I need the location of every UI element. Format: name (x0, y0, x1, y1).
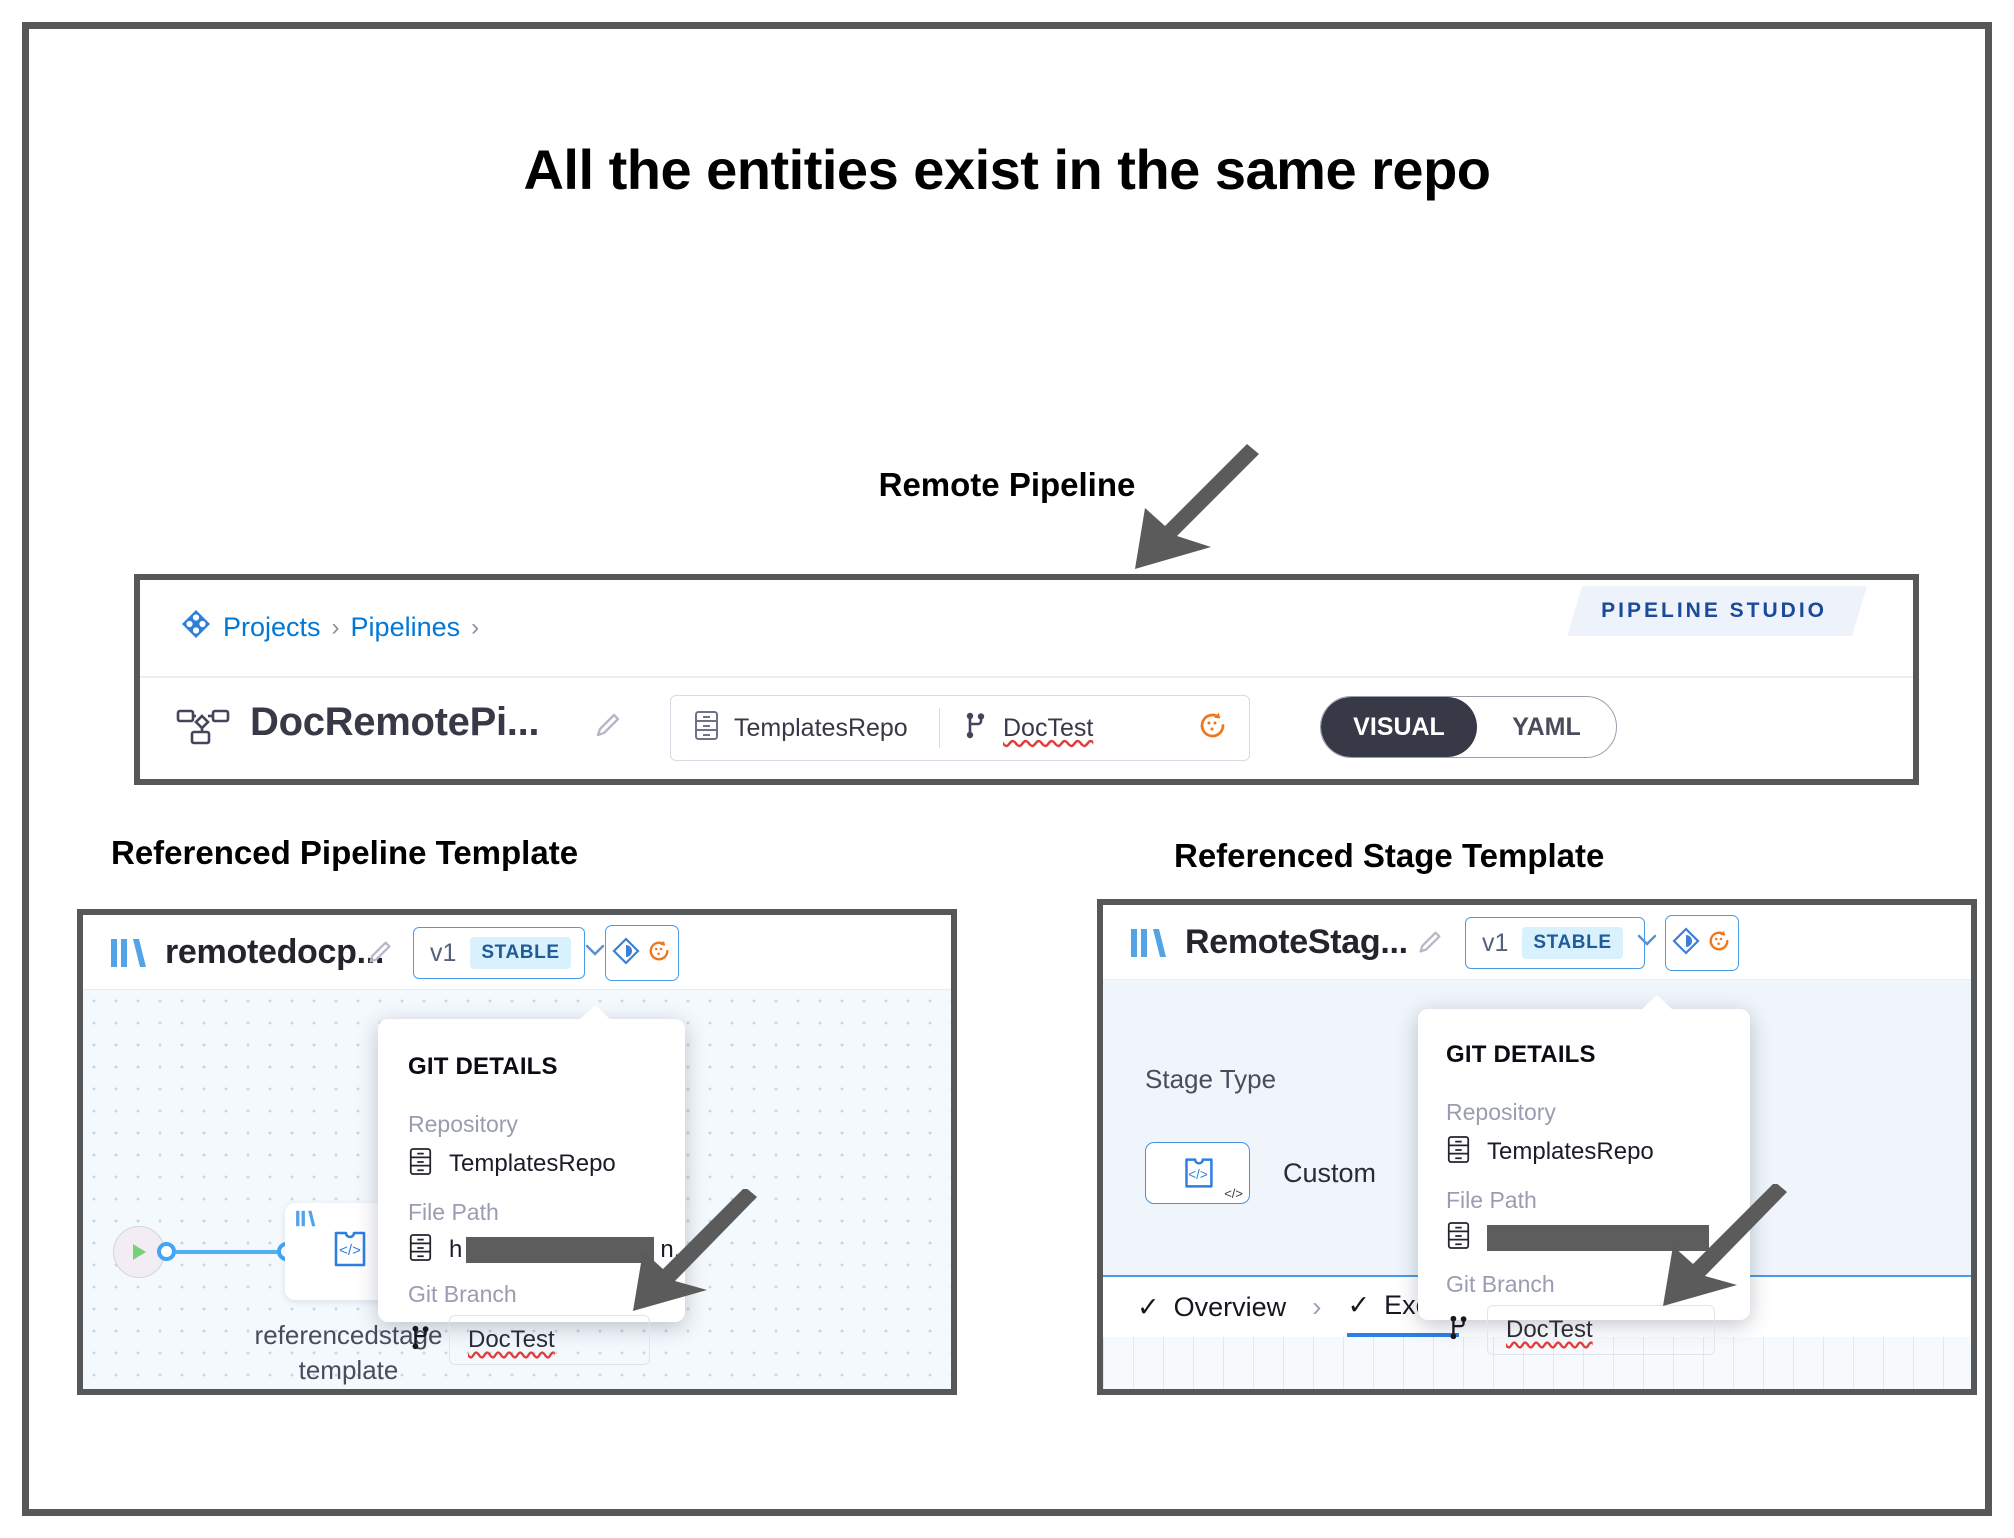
repo-selector[interactable]: TemplatesRepo (671, 710, 939, 746)
pipeline-template-name: remotedocp... (165, 933, 384, 972)
file-path-suffix: n... (660, 1236, 693, 1264)
stage-type-value: Custom (1283, 1158, 1376, 1189)
git-branch-value: DocTest (1506, 1316, 1593, 1344)
git-details-title: GIT DETAILS (408, 1053, 558, 1081)
repository-value: TemplatesRepo (449, 1150, 616, 1178)
code-badge-icon: </> (1224, 1186, 1243, 1201)
remote-pipeline-topbar: Projects › Pipelines › PIPELINE STUDIO (140, 580, 1913, 678)
git-branch-row: DocTest (408, 1315, 650, 1365)
svg-text:</>: </> (1188, 1167, 1208, 1182)
custom-stage-icon: </> (326, 1225, 374, 1278)
breadcrumb: Projects › Pipelines › (180, 608, 479, 647)
stage-type-label: Stage Type (1145, 1064, 1276, 1095)
git-branch-icon (1446, 1313, 1471, 1347)
stage-template-header: RemoteStag... v1 STABLE (1103, 905, 1971, 980)
template-library-icon (109, 936, 149, 975)
stage-template-name: RemoteStag... (1185, 923, 1408, 962)
remote-pipeline-namebar: DocRemotePi... (140, 678, 1913, 779)
check-icon: ✓ (1347, 1290, 1370, 1321)
git-sync-icon (646, 938, 672, 969)
chevron-down-icon[interactable] (1637, 934, 1657, 952)
branch-selector[interactable]: DocTest (940, 709, 1249, 747)
tab-overview-label: Overview (1174, 1292, 1287, 1323)
edit-pencil-icon[interactable] (590, 709, 624, 748)
file-path-redaction (1487, 1225, 1709, 1251)
referenced-stage-template-card: RemoteStag... v1 STABLE (1097, 899, 1977, 1395)
git-details-title: GIT DETAILS (1446, 1041, 1596, 1069)
file-path-prefix: h (449, 1236, 462, 1264)
git-sync-icon[interactable] (1196, 709, 1229, 747)
file-path-label: File Path (408, 1199, 499, 1226)
version-stable-badge: STABLE (470, 937, 570, 969)
visual-yaml-toggle[interactable]: VISUAL YAML (1320, 696, 1617, 758)
toggle-visual[interactable]: VISUAL (1321, 697, 1477, 757)
version-label: v1 (1482, 929, 1508, 958)
check-icon: ✓ (1137, 1292, 1160, 1323)
git-branch-icon (962, 710, 989, 746)
chevron-down-icon[interactable] (585, 944, 605, 962)
breadcrumb-pipelines[interactable]: Pipelines (351, 612, 461, 643)
pipeline-template-header: remotedocp... v1 STABLE (83, 915, 951, 990)
remote-pipeline-card: Projects › Pipelines › PIPELINE STUDIO (134, 574, 1919, 785)
pipeline-studio-badge: PIPELINE STUDIO (1567, 586, 1867, 636)
pipeline-name: DocRemotePi... (250, 700, 539, 745)
file-path-label: File Path (1446, 1187, 1537, 1214)
projects-grid-icon (180, 608, 212, 647)
repository-value: TemplatesRepo (1487, 1138, 1654, 1166)
referenced-stage-heading: Referenced Stage Template (1174, 837, 1604, 875)
git-details-popup: GIT DETAILS Repository TemplatesRepo Fil… (378, 1019, 685, 1322)
referenced-pipeline-template-card: remotedocp... v1 STABLE (77, 909, 957, 1395)
git-branch-input[interactable]: DocTest (449, 1315, 650, 1365)
version-selector[interactable]: v1 STABLE (413, 927, 585, 979)
version-selector[interactable]: v1 STABLE (1465, 917, 1645, 969)
repo-branch-selector[interactable]: TemplatesRepo (670, 695, 1250, 761)
svg-text:</>: </> (339, 1242, 361, 1259)
tab-separator-icon: › (1312, 1291, 1321, 1323)
repository-label: Repository (1446, 1099, 1556, 1126)
repository-icon (1446, 1135, 1471, 1169)
git-diamond-icon (1672, 927, 1700, 960)
repository-icon (1446, 1221, 1471, 1255)
git-branch-row: DocTest (1446, 1305, 1715, 1355)
repository-row: TemplatesRepo (408, 1147, 616, 1181)
repository-label: Repository (408, 1111, 518, 1138)
version-label: v1 (430, 939, 456, 968)
git-sync-icon (1706, 928, 1732, 959)
toggle-yaml[interactable]: YAML (1477, 713, 1616, 742)
git-diamond-icon (612, 937, 640, 970)
version-stable-badge: STABLE (1522, 927, 1622, 959)
git-branch-label: Git Branch (408, 1281, 517, 1308)
file-path-value: .. (1717, 1224, 1730, 1252)
file-path-row: .. (1446, 1221, 1730, 1255)
pipeline-nodes-icon (176, 706, 230, 755)
repository-row: TemplatesRepo (1446, 1135, 1654, 1169)
file-path-redaction (466, 1237, 654, 1263)
breadcrumb-separator-1: › (332, 614, 340, 642)
git-branch-value: DocTest (468, 1326, 555, 1354)
git-details-button[interactable] (605, 925, 679, 981)
git-branch-input[interactable]: DocTest (1487, 1305, 1715, 1355)
edit-pencil-icon[interactable] (363, 937, 395, 974)
page-title: All the entities exist in the same repo (29, 137, 1985, 202)
edit-pencil-icon[interactable] (1413, 927, 1445, 964)
repository-icon (408, 1233, 433, 1267)
poster-frame: All the entities exist in the same repo … (22, 22, 1992, 1516)
connector-line-1 (175, 1250, 287, 1254)
referenced-pipeline-heading: Referenced Pipeline Template (111, 834, 578, 872)
template-library-icon (1129, 926, 1169, 965)
tab-overview[interactable]: ✓ Overview (1137, 1277, 1286, 1337)
stage-type-custom-button[interactable]: </> </> (1145, 1142, 1250, 1204)
breadcrumb-separator-2: › (471, 614, 479, 642)
git-details-popup: GIT DETAILS Repository TemplatesRepo Fil… (1418, 1009, 1750, 1320)
git-branch-icon (408, 1323, 433, 1357)
branch-name: DocTest (1003, 714, 1093, 743)
repository-icon (693, 710, 720, 746)
file-path-row: h n... (408, 1233, 694, 1267)
repository-name: TemplatesRepo (734, 714, 908, 743)
repository-icon (408, 1147, 433, 1181)
connector-dot-start (157, 1242, 176, 1261)
template-library-icon (295, 1209, 317, 1233)
breadcrumb-projects[interactable]: Projects (223, 612, 321, 643)
remote-pipeline-heading: Remote Pipeline (29, 466, 1985, 504)
git-branch-label: Git Branch (1446, 1271, 1555, 1298)
git-details-button[interactable] (1665, 915, 1739, 971)
